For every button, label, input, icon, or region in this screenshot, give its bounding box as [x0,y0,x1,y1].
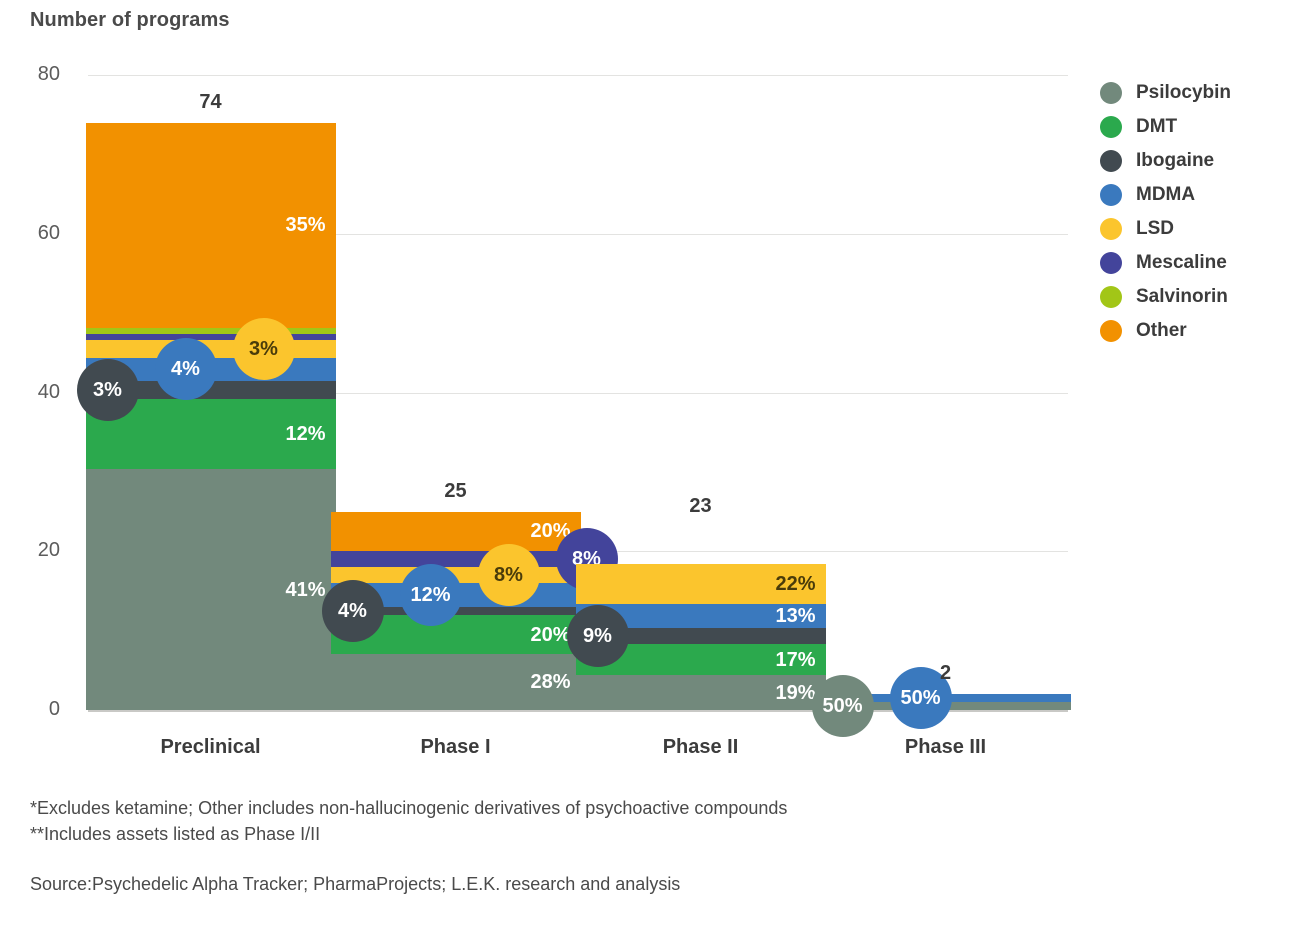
segment-percent-label: 20% [530,625,570,645]
x-axis-category-label: Phase III [821,736,1071,759]
legend-item[interactable]: Ibogaine [1100,144,1300,178]
legend-color-swatch-icon [1100,320,1122,342]
bar-segment[interactable]: 19% [576,675,826,710]
legend-item-label: Mescaline [1136,252,1227,274]
segment-percent-label: 17% [775,650,815,670]
bar-total-label: 25 [331,480,581,503]
plot-area: 41%12%35%3%4%3%7428%20%20%4%12%8%8%2519%… [88,75,1068,710]
y-axis-tick-label: 0 [0,698,60,721]
legend-color-swatch-icon [1100,252,1122,274]
bar-segment[interactable]: 35% [86,123,336,329]
x-axis-category-label: Phase II [576,736,826,759]
source-note: Source:Psychedelic Alpha Tracker; Pharma… [30,874,680,895]
legend-item-label: Ibogaine [1136,150,1214,172]
segment-percent-bubble: 12% [400,564,462,626]
segment-percent-label: 35% [285,215,325,235]
legend-color-swatch-icon [1100,116,1122,138]
stacked-bar[interactable]: 19%17%13%22%9% [576,527,826,710]
legend-item-label: MDMA [1136,184,1195,206]
bar-segment[interactable]: 20% [331,512,581,552]
legend-item-label: DMT [1136,116,1177,138]
y-axis-tick-label: 20 [0,539,60,562]
legend-item[interactable]: LSD [1100,212,1300,246]
legend-color-swatch-icon [1100,82,1122,104]
legend-color-swatch-icon [1100,218,1122,240]
legend-color-swatch-icon [1100,150,1122,172]
bar-segment[interactable] [331,551,581,567]
segment-percent-bubble: 4% [155,338,217,400]
bar-total-label: 23 [576,495,826,518]
bar-total-label: 2 [821,662,1071,685]
x-axis-category-label: Preclinical [86,736,336,759]
segment-percent-label: 28% [530,672,570,692]
y-axis-tick-label: 60 [0,222,60,245]
segment-percent-bubble: 3% [77,359,139,421]
bar-segment[interactable] [86,334,336,340]
stacked-bar[interactable]: 50%50% [821,694,1071,710]
stacked-bar[interactable]: 28%20%20%4%12%8%8% [331,512,581,710]
legend-item[interactable]: Psilocybin [1100,76,1300,110]
legend-item[interactable]: Mescaline [1100,246,1300,280]
segment-percent-bubble: 8% [478,544,540,606]
gridline [88,75,1068,76]
stacked-bar[interactable]: 41%12%35%3%4%3% [86,123,336,710]
segment-percent-label: 13% [775,606,815,626]
segment-percent-label: 12% [285,424,325,444]
bar-total-label: 74 [86,91,336,114]
segment-percent-label: 41% [285,580,325,600]
segment-percent-label: 22% [775,574,815,594]
legend-item[interactable]: Salvinorin [1100,280,1300,314]
y-axis-tick-label: 40 [0,381,60,404]
legend-item-label: LSD [1136,218,1174,240]
footnote-line: *Excludes ketamine; Other includes non-h… [30,795,787,821]
footnotes: *Excludes ketamine; Other includes non-h… [30,795,787,847]
y-axis-tick-label: 80 [0,63,60,86]
legend-item-label: Salvinorin [1136,286,1228,308]
legend-item[interactable]: MDMA [1100,178,1300,212]
bar-segment[interactable]: 41% [86,469,336,710]
segment-percent-bubble: 3% [233,318,295,380]
legend-item-label: Other [1136,320,1187,342]
segment-percent-bubble: 9% [567,605,629,667]
segment-percent-bubble: 4% [322,580,384,642]
legend-color-swatch-icon [1100,184,1122,206]
legend-color-swatch-icon [1100,286,1122,308]
chart-title: Number of programs [30,9,230,32]
bar-segment[interactable]: 22% [576,564,826,604]
segment-percent-label: 19% [775,683,815,703]
chart-container: Number of programs 020406080 41%12%35%3%… [0,0,1300,929]
legend-item-label: Psilocybin [1136,82,1231,104]
legend-item[interactable]: DMT [1100,110,1300,144]
x-axis-category-label: Phase I [331,736,581,759]
bar-segment[interactable]: 28% [331,654,581,710]
legend-item[interactable]: Other [1100,314,1300,348]
legend: PsilocybinDMTIbogaineMDMALSDMescalineSal… [1100,76,1300,348]
footnote-line: **Includes assets listed as Phase I/II [30,821,787,847]
bar-segment[interactable] [86,328,336,334]
